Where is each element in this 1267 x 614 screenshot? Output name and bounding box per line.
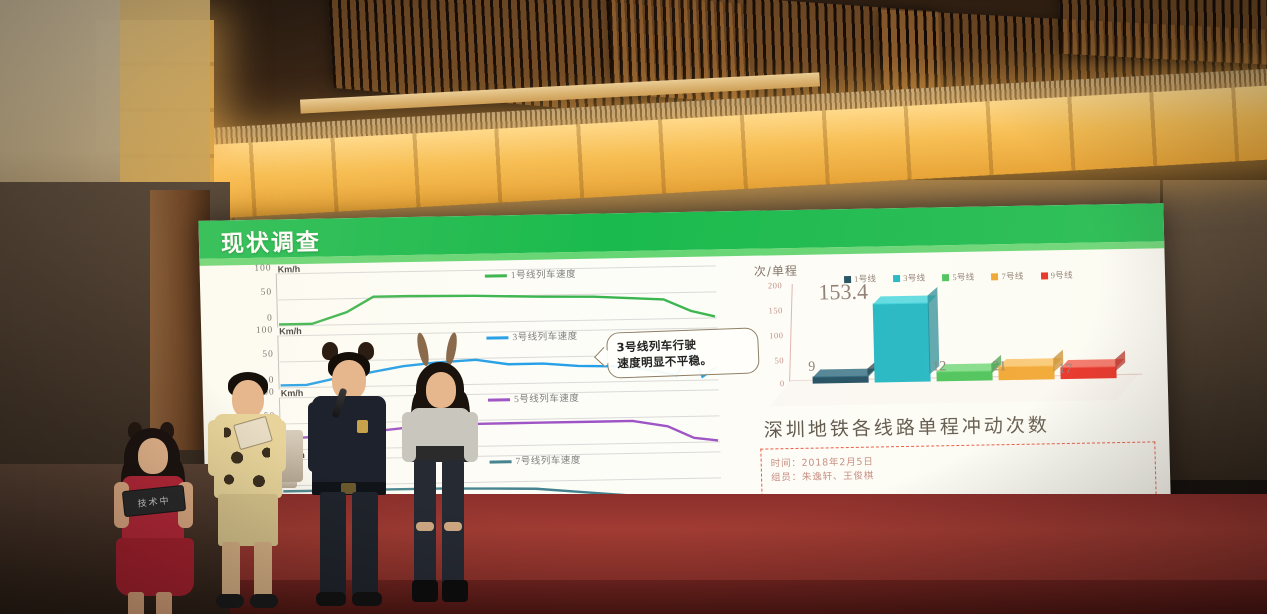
bar-face xyxy=(873,303,931,383)
info-members: 组员：朱逸轩、王俊棋 xyxy=(771,468,874,484)
leg-right xyxy=(156,592,172,614)
uniform-badge xyxy=(357,420,368,433)
legend-label: 5号线列车速度 xyxy=(514,394,580,405)
arm-right xyxy=(270,420,286,472)
bar-line3 xyxy=(873,303,931,383)
bar-value-line7: 21 xyxy=(992,359,1006,375)
leg-right xyxy=(352,492,378,596)
y-tick-100: 100 xyxy=(229,264,271,275)
legend-swatch xyxy=(485,275,507,278)
boot-right xyxy=(442,580,468,602)
legend-swatch xyxy=(488,399,510,402)
legend-swatch xyxy=(490,461,512,464)
laptop-screen-text: 技术中 xyxy=(137,493,171,509)
shorts xyxy=(218,494,278,546)
bar-value-line9: 17 xyxy=(1058,362,1072,378)
bar-y-tick-0: 0 xyxy=(751,378,785,389)
person-hawaiian-shirt xyxy=(208,372,286,614)
head xyxy=(232,380,264,418)
arm-right xyxy=(370,402,386,472)
conference-hall-scene: 现状调查 100 50 0 Km/h 1号线列车速度 xyxy=(0,0,1267,614)
leg-left xyxy=(128,592,144,614)
bar-y-tick-200: 200 xyxy=(748,280,782,291)
person-police-uniform xyxy=(308,342,392,614)
bar-line7 xyxy=(998,365,1054,380)
y-tick-0: 0 xyxy=(231,314,273,325)
arm-left xyxy=(308,402,324,472)
bar-chart-caption: 深圳地铁各线路单程冲动次数 xyxy=(763,408,1164,442)
arm-left xyxy=(208,420,224,476)
leg-right xyxy=(254,542,272,598)
bar-value-line3: 153.4 xyxy=(818,279,868,306)
bar-y-axis-line xyxy=(789,284,793,382)
shoe-left xyxy=(316,592,346,606)
shoe-left xyxy=(216,594,244,608)
legend-label: 1号线列车速度 xyxy=(511,270,577,281)
leg-left-ripped-jeans xyxy=(414,460,436,586)
line-chart-line1: 100 50 0 Km/h 1号线列车速度 xyxy=(230,259,741,330)
skirt xyxy=(116,538,194,596)
bar-face xyxy=(998,365,1054,380)
head xyxy=(138,438,168,474)
leg-left xyxy=(320,492,346,596)
callout-line-2: 速度明显不平稳。 xyxy=(617,351,754,372)
page-title: 现状调查 xyxy=(220,223,321,259)
callout-bubble: 3号线列车行驶 速度明显不平稳。 xyxy=(606,327,760,378)
bar-side xyxy=(1115,351,1125,372)
leg-left xyxy=(222,542,240,598)
torso-top xyxy=(410,408,470,450)
boot-left xyxy=(412,580,438,602)
arm-left xyxy=(402,412,416,462)
shoe-right xyxy=(250,594,278,608)
legend-line3: 3号线列车速度 xyxy=(486,328,578,344)
person-bunny-ears xyxy=(400,350,480,614)
legend-line1: 1号线列车速度 xyxy=(485,266,577,282)
head xyxy=(332,360,366,400)
legend-label: 7号线列车速度 xyxy=(515,456,581,467)
bar-y-tick-150: 150 xyxy=(749,305,783,316)
callout-text: 3号线列车行驶 速度明显不平稳。 xyxy=(616,335,753,372)
jean-rip xyxy=(444,522,462,531)
legend-swatch xyxy=(486,337,508,340)
y-tick-50: 50 xyxy=(232,350,274,361)
arm-right xyxy=(464,412,478,462)
bar-value-line1: 9 xyxy=(808,360,815,376)
shoe-right xyxy=(352,592,382,606)
jean-rip xyxy=(416,522,434,531)
head xyxy=(426,372,456,408)
bar-line1 xyxy=(813,376,869,384)
bar-value-line5: 12 xyxy=(932,359,946,375)
leg-right-ripped-jeans xyxy=(442,460,464,586)
bar-chart: 次/单程 200 150 100 50 0 1号线3号线5号线7号线9号线 xyxy=(748,255,1156,402)
y-tick-50: 50 xyxy=(230,288,272,299)
bar-y-axis-unit: 次/单程 xyxy=(754,262,798,280)
legend-line7: 7号线列车速度 xyxy=(489,452,581,468)
y-tick-100: 100 xyxy=(231,326,273,337)
legend-line5: 5号线列车速度 xyxy=(488,390,580,406)
person-seated-woman xyxy=(112,420,198,614)
legend-label: 3号线列车速度 xyxy=(512,332,578,343)
